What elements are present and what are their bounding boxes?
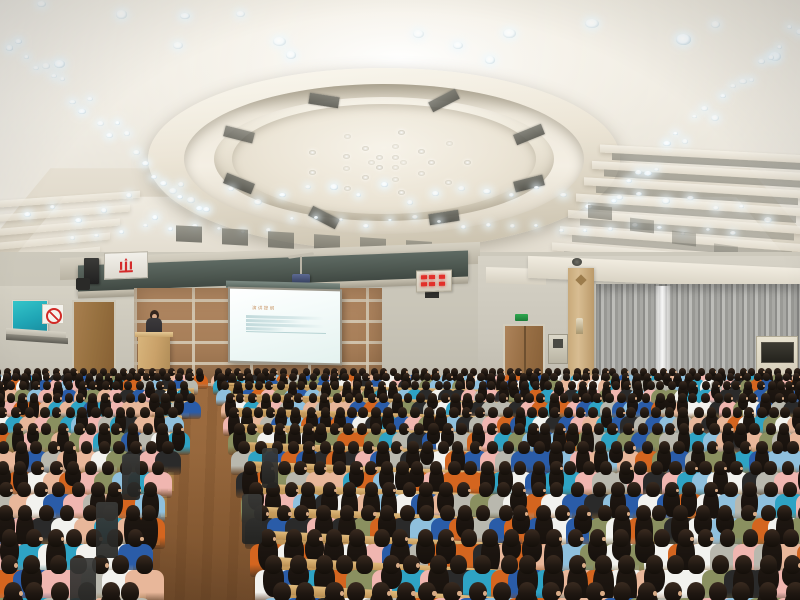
student-ear	[173, 371, 175, 373]
student-ear	[373, 512, 377, 516]
ceiling-downlight	[711, 21, 720, 28]
student-ear	[375, 397, 377, 400]
student-head	[594, 423, 604, 435]
student-head	[651, 461, 663, 475]
student-head	[355, 393, 364, 403]
student-head	[500, 423, 510, 435]
student-head	[286, 529, 302, 547]
student-head	[85, 461, 97, 475]
ceiling-downlight	[119, 230, 125, 234]
ceiling-downlight	[54, 60, 65, 68]
student-ear	[753, 512, 757, 516]
student-head	[0, 461, 9, 475]
student-head	[463, 393, 472, 403]
student-head	[589, 381, 597, 390]
student-head	[238, 441, 249, 454]
student-head	[76, 373, 83, 381]
institution-logo-sign	[104, 251, 148, 280]
student-ear	[375, 467, 378, 471]
student-head	[65, 393, 74, 403]
student-head	[545, 555, 562, 574]
student-head	[732, 582, 750, 600]
student-head	[617, 393, 626, 403]
student-head	[436, 407, 446, 418]
led-segment	[429, 282, 435, 286]
student-head	[654, 529, 670, 547]
student-head	[493, 582, 511, 600]
student-head	[356, 555, 373, 574]
student-head	[333, 441, 344, 454]
student-head	[152, 461, 164, 475]
student-head	[633, 373, 640, 381]
student-head	[679, 381, 687, 390]
ceiling-downlight	[644, 171, 651, 176]
student-head	[263, 423, 273, 435]
student-head	[234, 423, 244, 435]
student-head	[142, 505, 157, 521]
student-head	[0, 505, 13, 521]
student-head	[779, 423, 789, 435]
ceiling-downlight	[143, 224, 148, 227]
student-ear	[337, 376, 339, 378]
student-head	[116, 407, 126, 418]
student-head	[138, 393, 147, 403]
student-head	[440, 505, 455, 521]
student-head	[64, 373, 71, 381]
student-head	[768, 381, 776, 390]
chair-back	[262, 448, 278, 488]
student-ear	[650, 376, 652, 378]
student-head	[674, 373, 681, 381]
student-head	[712, 555, 729, 574]
ceiling-downlight	[42, 63, 50, 69]
student-head	[343, 482, 357, 497]
student-head	[404, 393, 413, 403]
student-head	[538, 407, 548, 418]
podium-top	[135, 332, 173, 337]
student-head	[115, 373, 122, 381]
ceiling-downlight	[15, 39, 22, 44]
student-head	[568, 381, 576, 390]
ceiling-downlight	[585, 19, 599, 29]
medallion-spotlight	[428, 160, 435, 165]
student-head	[450, 555, 467, 574]
student-head	[331, 381, 339, 390]
student-head	[66, 529, 82, 547]
student-head	[449, 407, 459, 418]
student-head	[611, 441, 622, 454]
student-head	[161, 393, 170, 403]
student-head	[605, 393, 614, 403]
student-head	[448, 461, 460, 475]
student-head	[413, 373, 420, 381]
student-head	[150, 393, 159, 403]
student-head	[244, 461, 256, 475]
student-head	[229, 373, 236, 381]
medallion-spotlight	[445, 180, 452, 185]
student-head	[414, 423, 424, 435]
student-head	[452, 441, 463, 454]
student-head	[126, 407, 136, 418]
student-head	[217, 373, 224, 381]
student-head	[14, 461, 26, 475]
student-head	[143, 423, 153, 435]
student-head	[340, 505, 355, 521]
student-head	[514, 423, 524, 435]
student-head	[642, 441, 653, 454]
student-head	[424, 373, 431, 381]
student-head	[766, 423, 776, 435]
student-ear	[523, 489, 526, 493]
student-ear	[506, 397, 508, 400]
chair-back	[70, 558, 96, 600]
student-head	[288, 441, 299, 454]
student-head	[482, 529, 498, 547]
student-head	[759, 582, 777, 600]
student-head	[692, 441, 703, 454]
student-head	[525, 393, 534, 403]
student-head	[600, 461, 612, 475]
student-head	[550, 393, 559, 403]
student-head	[86, 423, 96, 435]
student-head	[41, 423, 51, 435]
student-head	[428, 393, 437, 403]
student-head	[707, 407, 717, 418]
student-ear	[457, 591, 461, 596]
student-ear	[233, 397, 235, 400]
student-head	[673, 505, 688, 521]
ceiling-vent	[176, 225, 202, 242]
student-head	[476, 505, 491, 521]
led-segment	[439, 275, 445, 279]
student-head	[358, 407, 368, 418]
student-head	[374, 529, 390, 547]
student-head	[394, 373, 401, 381]
student-head	[735, 555, 752, 574]
student-head	[439, 482, 453, 497]
student-head	[598, 505, 613, 521]
ceiling-downlight	[662, 198, 670, 204]
student-head	[52, 482, 66, 497]
student-head	[126, 505, 141, 521]
student-head	[196, 368, 203, 376]
student-head	[348, 441, 359, 454]
student-head	[128, 423, 138, 435]
student-head	[488, 407, 498, 418]
student-head	[0, 441, 9, 454]
student-ear	[255, 397, 257, 400]
student-head	[299, 373, 306, 381]
ceiling-downlight	[687, 196, 693, 200]
ceiling-downlight	[152, 215, 158, 219]
student-head	[723, 441, 734, 454]
student-head	[39, 505, 54, 521]
student-head	[709, 423, 719, 435]
student-head	[504, 529, 520, 547]
ceiling-downlight	[437, 220, 441, 223]
student-ear	[21, 428, 24, 431]
student-head	[499, 461, 511, 475]
student-head	[727, 373, 734, 381]
medallion-spotlight	[362, 175, 369, 180]
slide-text-line	[246, 319, 302, 323]
wall-sconce-lamp	[576, 318, 583, 334]
wall-control-panel[interactable]	[548, 334, 568, 364]
student-head	[144, 482, 158, 497]
ceiling-downlight	[485, 56, 495, 64]
student-head	[637, 529, 653, 547]
student-ear	[291, 397, 293, 400]
student-head	[296, 582, 314, 600]
student-head	[126, 373, 133, 381]
student-head	[665, 407, 675, 418]
medallion-spotlight	[446, 141, 453, 146]
student-head	[43, 381, 51, 390]
ceiling	[0, 0, 800, 268]
lecture-hall-photo: 演讲提纲	[0, 0, 800, 600]
student-head	[401, 381, 409, 390]
medallion-spotlight	[392, 144, 399, 149]
student-head	[613, 582, 631, 600]
student-head	[354, 373, 361, 381]
student-ear	[473, 376, 475, 378]
student-ear	[702, 428, 705, 431]
student-head	[796, 381, 800, 390]
student-ear	[283, 428, 286, 431]
student-head	[162, 441, 173, 454]
student-head	[309, 381, 317, 390]
student-head	[373, 373, 380, 381]
student-head	[531, 373, 538, 381]
student-head	[613, 529, 629, 547]
student-head	[518, 582, 536, 600]
ceiling-downlight	[739, 79, 746, 84]
ceiling-downlight	[432, 191, 439, 196]
student-ear	[60, 397, 62, 400]
student-head	[136, 381, 144, 390]
student-head	[602, 407, 612, 418]
student-head	[278, 461, 290, 475]
student-head	[96, 373, 103, 381]
student-head	[573, 373, 580, 381]
medallion-center-disc	[232, 104, 536, 214]
student-head	[642, 393, 651, 403]
student-ear	[327, 397, 329, 400]
ceiling-downlight	[273, 37, 286, 46]
ceiling-downlight	[168, 227, 174, 231]
student-head	[659, 441, 670, 454]
student-head	[333, 393, 342, 403]
student-head	[245, 381, 253, 390]
student-head	[724, 482, 738, 497]
student-head	[157, 423, 167, 435]
ceiling-downlight	[37, 1, 46, 8]
student-head	[371, 407, 381, 418]
student-head	[499, 505, 514, 521]
student-head	[541, 373, 548, 381]
student-head	[701, 393, 710, 403]
student-ear	[521, 397, 523, 400]
ceiling-vent	[630, 218, 654, 234]
ceiling-downlight	[339, 218, 343, 221]
student-head	[560, 393, 569, 403]
student-head	[422, 441, 433, 454]
student-head	[479, 482, 493, 497]
student-ear	[338, 428, 341, 431]
student-ear	[731, 428, 734, 431]
ceiling-downlight	[101, 208, 108, 213]
student-head	[349, 529, 365, 547]
student-head	[221, 381, 229, 390]
student-head	[301, 482, 315, 497]
ceiling-downlight	[24, 55, 29, 59]
student-head	[651, 407, 661, 418]
student-head	[536, 505, 551, 521]
student-head	[715, 373, 722, 381]
student-head	[91, 482, 105, 497]
student-head	[175, 393, 184, 403]
student-head	[430, 461, 442, 475]
student-head	[187, 393, 196, 403]
ceiling-downlight	[126, 193, 132, 197]
student-head	[760, 555, 777, 574]
ceiling-vent	[588, 205, 612, 221]
medallion-spotlight	[368, 160, 375, 165]
student-ear	[368, 376, 370, 378]
student-ear	[83, 428, 86, 431]
student-ear	[57, 446, 60, 449]
ceiling-downlight	[187, 197, 195, 203]
student-head	[744, 381, 752, 390]
student-head	[497, 373, 504, 381]
student-head	[326, 529, 342, 547]
student-ear	[181, 428, 184, 431]
student-head	[43, 393, 52, 403]
student-ear	[409, 376, 411, 378]
student-head	[17, 482, 31, 497]
student-head	[113, 393, 122, 403]
student-head	[242, 407, 252, 418]
student-head	[756, 441, 767, 454]
student-head	[744, 373, 751, 381]
student-head	[54, 381, 62, 390]
student-head	[602, 373, 609, 381]
student-ear	[140, 537, 144, 542]
student-head	[656, 381, 664, 390]
ceiling-downlight	[6, 45, 13, 50]
student-head	[398, 407, 408, 418]
student-head	[652, 505, 667, 521]
ceiling-downlight	[676, 34, 691, 45]
medallion-spotlight	[344, 134, 351, 139]
student-head	[733, 407, 743, 418]
student-head	[775, 373, 782, 381]
student-head	[53, 373, 60, 381]
student-head	[634, 461, 646, 475]
student-head	[30, 441, 41, 454]
student-head	[12, 373, 19, 381]
student-head	[718, 505, 733, 521]
student-ear	[39, 537, 43, 542]
student-head	[588, 407, 598, 418]
student-ear	[411, 591, 415, 596]
student-head	[577, 441, 588, 454]
exit-sign-icon	[515, 314, 528, 321]
student-ear	[432, 591, 436, 596]
student-head	[113, 441, 124, 454]
student-head	[246, 373, 253, 381]
ceiling-downlight	[486, 223, 492, 227]
student-head	[381, 461, 393, 475]
student-head	[678, 393, 687, 403]
student-head	[709, 582, 727, 600]
student-head	[322, 381, 330, 390]
student-ear	[315, 412, 317, 415]
student-head	[333, 461, 345, 475]
chair-back	[242, 494, 262, 544]
student-ear	[556, 591, 560, 596]
student-ear	[448, 397, 450, 400]
ceiling-downlight	[730, 231, 736, 235]
ceiling-downlight	[87, 97, 93, 101]
student-head	[255, 381, 263, 390]
student-head	[516, 407, 526, 418]
student-head	[18, 505, 33, 521]
student-head	[336, 555, 353, 574]
student-head	[555, 381, 563, 390]
ceiling-downlight	[254, 199, 262, 205]
student-ear	[479, 446, 482, 449]
student-head	[474, 555, 491, 574]
student-head	[612, 381, 620, 390]
student-head	[667, 555, 684, 574]
projector-pole	[300, 256, 302, 276]
led-segment	[429, 275, 435, 279]
ceiling-downlight	[24, 212, 31, 217]
student-head	[540, 423, 550, 435]
ceiling-downlight	[739, 205, 744, 209]
student-head	[563, 373, 570, 381]
student-head	[699, 461, 711, 475]
student-head	[466, 381, 474, 390]
ceiling-downlight	[711, 115, 719, 121]
student-head	[694, 407, 704, 418]
ceiling-downlight	[169, 188, 177, 194]
student-head	[750, 461, 762, 475]
student-head	[527, 407, 537, 418]
student-head	[524, 529, 540, 547]
student-head	[418, 529, 434, 547]
ceiling-downlight	[758, 59, 765, 64]
student-head	[66, 407, 76, 418]
ceiling-downlight	[124, 131, 131, 136]
student-head	[265, 555, 282, 574]
student-head	[290, 423, 300, 435]
student-ear	[319, 537, 323, 542]
student-head	[688, 393, 697, 403]
student-head	[793, 407, 800, 418]
medallion-spotlight	[418, 171, 425, 176]
student-head	[3, 373, 10, 381]
ceiling-downlight	[701, 106, 708, 111]
student-head	[461, 529, 477, 547]
student-head	[521, 381, 529, 390]
student-head	[407, 441, 418, 454]
student-head	[533, 461, 545, 475]
student-ear	[630, 467, 633, 471]
student-head	[720, 529, 736, 547]
student-head	[722, 407, 732, 418]
